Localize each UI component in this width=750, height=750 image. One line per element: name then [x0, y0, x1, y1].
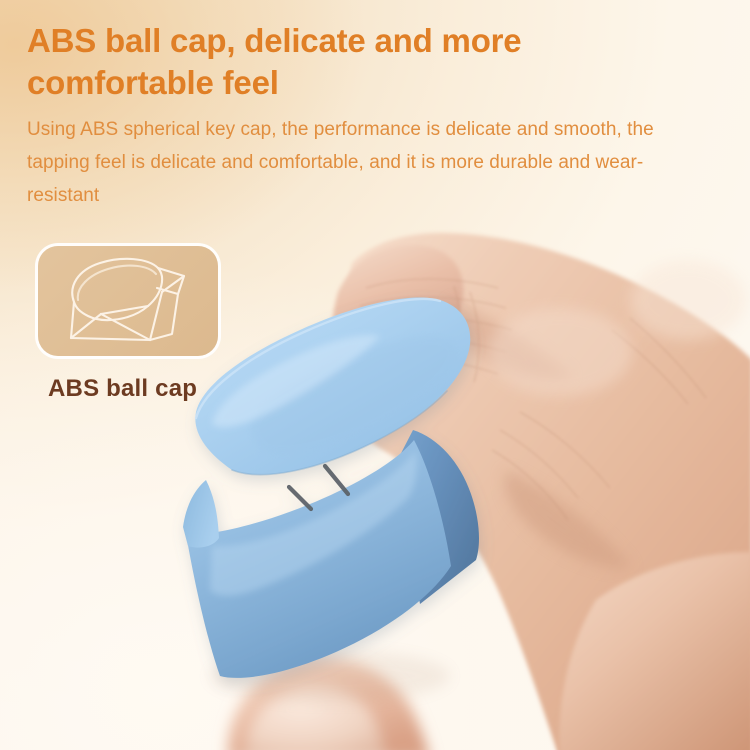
product-feature-panel: ABS ball cap, delicate and more comforta… — [0, 0, 750, 750]
page-title: ABS ball cap, delicate and more comforta… — [27, 20, 667, 104]
keycap-wireframe-icon — [38, 246, 218, 356]
copy-block: ABS ball cap, delicate and more comforta… — [27, 20, 687, 212]
page-description: Using ABS spherical key cap, the perform… — [27, 113, 687, 212]
badge-card — [38, 246, 218, 356]
badge-label: ABS ball cap — [38, 375, 218, 403]
feature-badge: ABS ball cap — [38, 246, 218, 403]
